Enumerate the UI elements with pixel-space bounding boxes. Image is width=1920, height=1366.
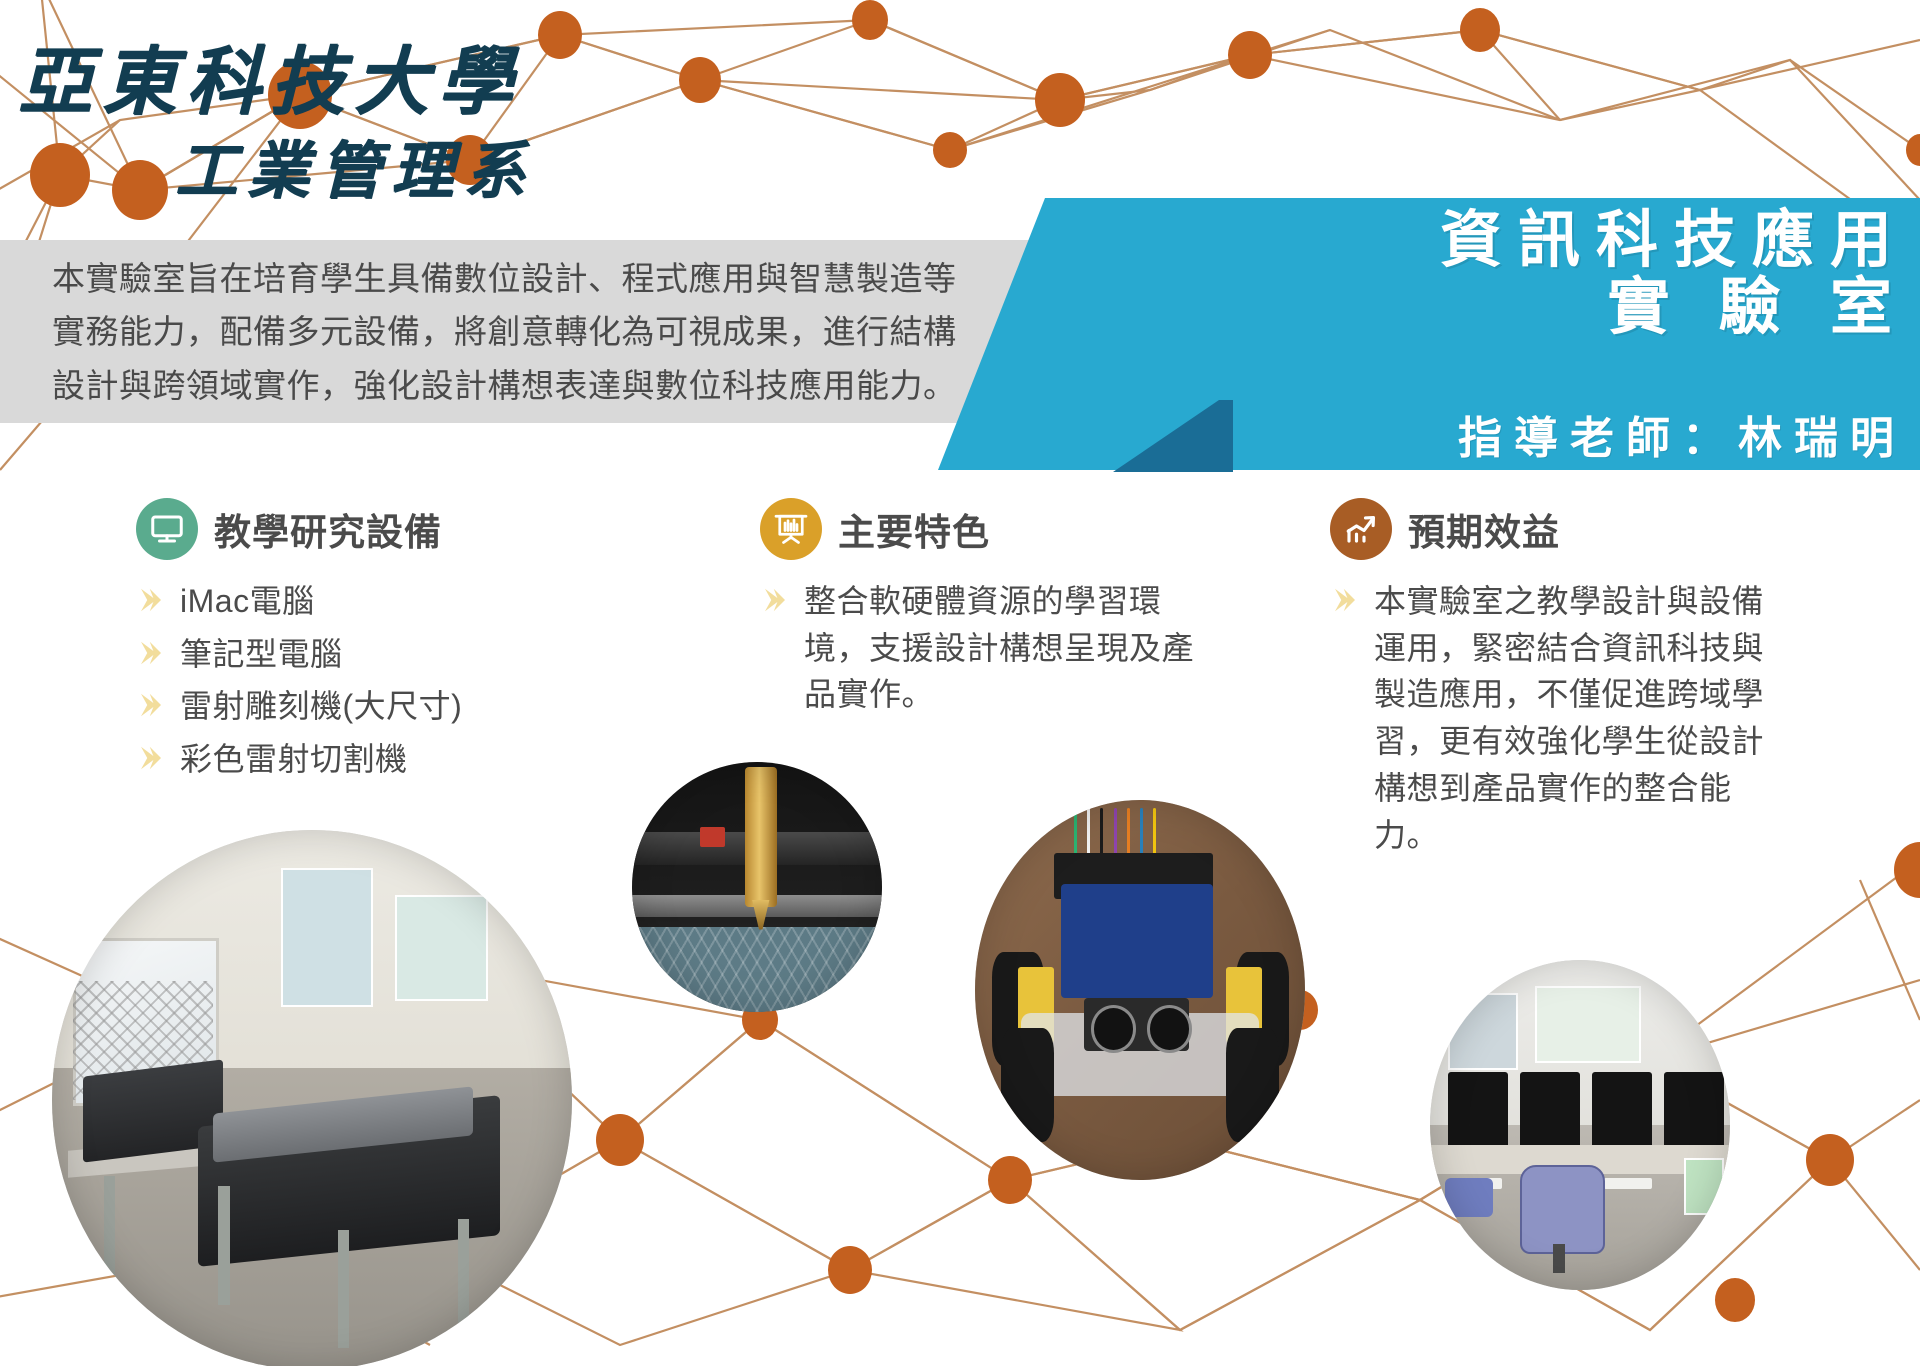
list-item-label: 整合軟硬體資源的學習環境，支援設計構想呈現及產品實作。 <box>804 578 1219 718</box>
list-item-label: 彩色雷射切割機 <box>180 736 408 783</box>
department-title: 工業管理系 <box>175 120 535 210</box>
intro-line-1: 本實驗室旨在培育學生具備數位設計、程式應用與智慧製造等 <box>52 252 1192 305</box>
section-features-title: 主要特色 <box>838 502 990 556</box>
presentation-board-icon <box>760 498 822 560</box>
intro-line-3: 設計與跨領域實作，強化設計構想表達與數位科技應用能力。 <box>52 359 1192 412</box>
monitor-icon <box>136 498 198 560</box>
section-benefits-header: 預期效益 <box>1330 498 1810 560</box>
list-item: 彩色雷射切割機 <box>136 736 606 783</box>
photo-robot-car <box>975 800 1305 1180</box>
section-equipment-title: 教學研究設備 <box>214 502 442 556</box>
university-title: 亞東科技大學 <box>18 22 522 129</box>
section-equipment: 教學研究設備 iMac電腦 筆記型電腦 雷射雕刻機(大尺寸) <box>136 498 606 789</box>
photo-laser-head <box>632 762 882 1012</box>
photo-laser-engraver-room <box>52 830 572 1366</box>
list-item-label: 筆記型電腦 <box>180 631 343 678</box>
poster-canvas: 亞東科技大學 工業管理系 本實驗室旨在培育學生具備數位設計、程式應用與智慧製造等… <box>0 0 1920 1366</box>
chevron-right-icon <box>136 743 166 773</box>
chevron-right-icon <box>136 690 166 720</box>
chevron-right-icon <box>1330 585 1360 615</box>
intro-paragraph: 本實驗室旨在培育學生具備數位設計、程式應用與智慧製造等 實務能力，配備多元設備，… <box>52 252 1192 412</box>
section-benefits-title: 預期效益 <box>1408 502 1560 556</box>
section-benefits-list: 本實驗室之教學設計與設備運用，緊密結合資訊科技與製造應用，不僅促進跨域學習，更有… <box>1330 578 1810 858</box>
intro-line-2: 實務能力，配備多元設備，將創意轉化為可視成果，進行結構 <box>52 305 1192 358</box>
list-item: 雷射雕刻機(大尺寸) <box>136 683 606 730</box>
list-item-label: 雷射雕刻機(大尺寸) <box>180 683 462 730</box>
list-item-label: iMac電腦 <box>180 578 315 625</box>
list-item-label: 本實驗室之教學設計與設備運用，緊密結合資訊科技與製造應用，不僅促進跨域學習，更有… <box>1374 578 1789 858</box>
section-benefits: 預期效益 本實驗室之教學設計與設備運用，緊密結合資訊科技與製造應用，不僅促進跨域… <box>1330 498 1810 864</box>
chevron-right-icon <box>760 585 790 615</box>
list-item: iMac電腦 <box>136 578 606 625</box>
photo-imac-lab <box>1430 960 1730 1290</box>
list-item: 本實驗室之教學設計與設備運用，緊密結合資訊科技與製造應用，不僅促進跨域學習，更有… <box>1330 578 1810 858</box>
section-features: 主要特色 整合軟硬體資源的學習環境，支援設計構想呈現及產品實作。 <box>760 498 1240 724</box>
chevron-right-icon <box>136 585 166 615</box>
section-features-header: 主要特色 <box>760 498 1240 560</box>
section-equipment-header: 教學研究設備 <box>136 498 606 560</box>
chevron-right-icon <box>136 638 166 668</box>
growth-chart-icon <box>1330 498 1392 560</box>
section-features-list: 整合軟硬體資源的學習環境，支援設計構想呈現及產品實作。 <box>760 578 1240 718</box>
section-equipment-list: iMac電腦 筆記型電腦 雷射雕刻機(大尺寸) 彩色雷射切割機 <box>136 578 606 783</box>
list-item: 整合軟硬體資源的學習環境，支援設計構想呈現及產品實作。 <box>760 578 1240 718</box>
list-item: 筆記型電腦 <box>136 631 606 678</box>
